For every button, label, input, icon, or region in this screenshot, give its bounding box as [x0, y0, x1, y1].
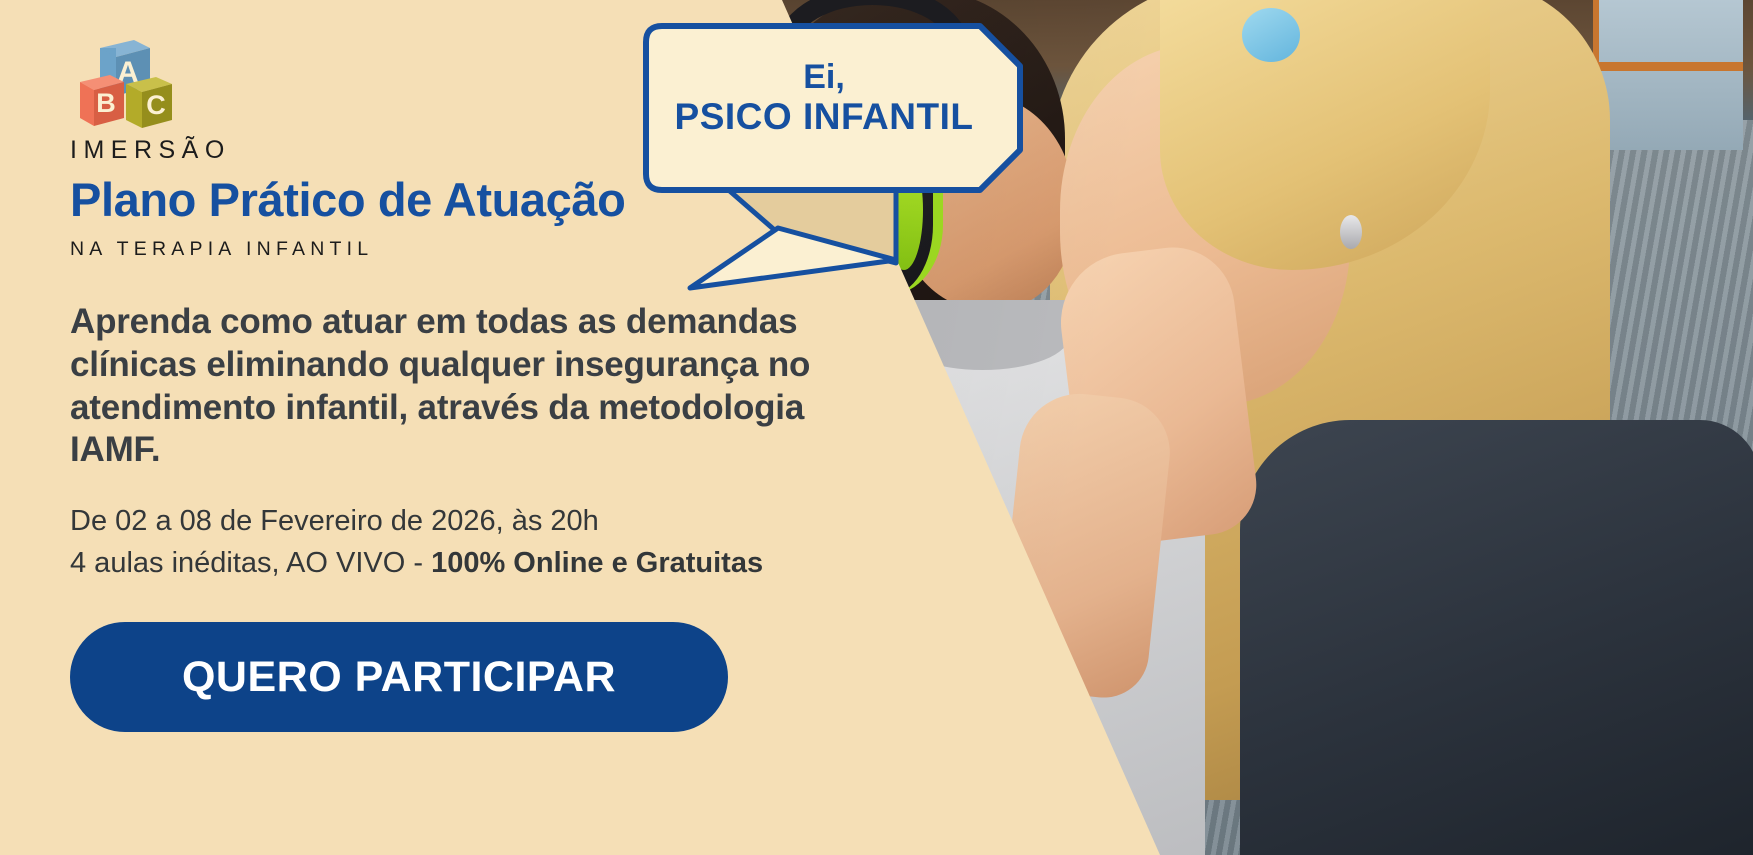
- event-detail-line: 4 aulas inéditas, AO VIVO - 100% Online …: [70, 542, 930, 584]
- cta-quero-participar-button[interactable]: QUERO PARTICIPAR: [70, 622, 728, 732]
- speech-bubble: Ei, PSICO INFANTIL: [628, 18, 1058, 308]
- bubble-body: [646, 26, 1020, 190]
- block-c-icon: C: [126, 77, 172, 128]
- event-detail-highlight: 100% Online e Gratuitas: [431, 547, 763, 579]
- block-b-icon: B: [80, 75, 124, 126]
- lede-paragraph: Aprenda como atuar em todas as demandas …: [70, 301, 830, 472]
- svg-text:C: C: [146, 90, 166, 120]
- event-detail-prefix: 4 aulas inéditas, AO VIVO -: [70, 547, 431, 579]
- event-date-line: De 02 a 08 de Fevereiro de 2026, às 20h: [70, 500, 930, 542]
- svg-text:B: B: [96, 88, 116, 118]
- event-meta: De 02 a 08 de Fevereiro de 2026, às 20h …: [70, 500, 930, 584]
- promo-banner: A B C IMERSÃO Plano Prático de Atuação N…: [0, 0, 1753, 855]
- abc-blocks-logo: A B C: [72, 30, 192, 130]
